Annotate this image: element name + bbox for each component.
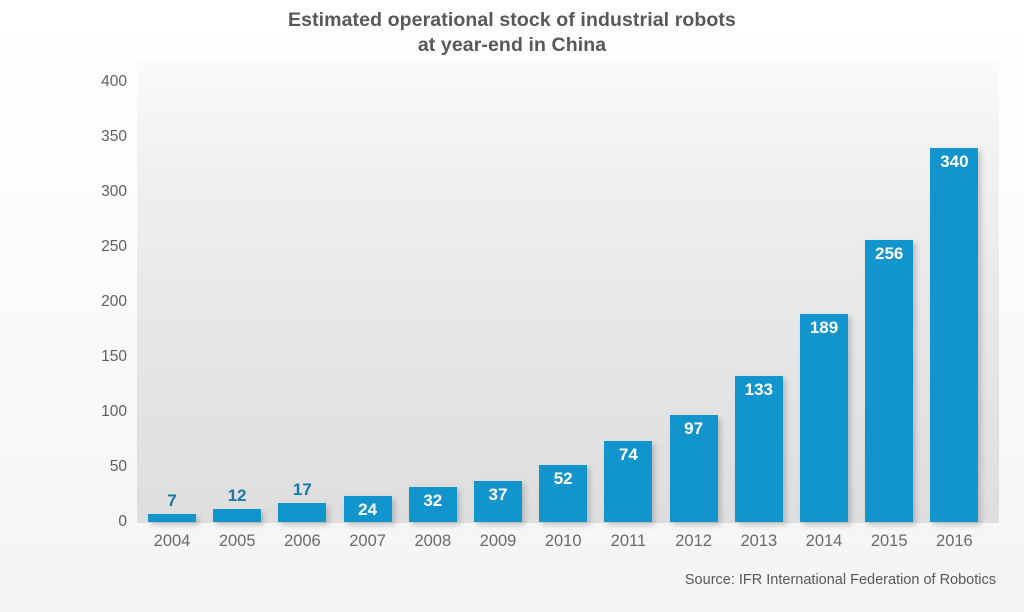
bar-group[interactable]: 12 [213,509,261,522]
bar-value-label: 17 [278,480,326,500]
x-axis-tick-label: 2005 [204,532,270,551]
bar[interactable] [800,314,848,522]
x-axis-tick-label: 2011 [595,532,661,551]
bar-value-label: 256 [865,244,913,264]
x-axis-tick-label: 2013 [726,532,792,551]
x-axis-tick-label: 2010 [530,532,596,551]
bar-group[interactable]: 97 [670,415,718,522]
bar-value-label: 12 [213,486,261,506]
bar[interactable] [148,514,196,522]
x-axis-tick-label: 2015 [856,532,922,551]
bar-value-label: 7 [148,491,196,511]
bars-and-x-axis-layer: 7200412200517200624200732200837200952201… [0,0,1024,612]
bar-value-label: 52 [539,469,587,489]
x-axis-tick-label: 2007 [335,532,401,551]
bar-group[interactable]: 17 [278,503,326,522]
bar-value-label: 24 [344,500,392,520]
bar[interactable] [213,509,261,522]
source-note: Source: IFR International Federation of … [685,572,996,588]
x-axis-tick-label: 2014 [791,532,857,551]
bar-group[interactable]: 37 [474,481,522,522]
x-axis-tick-label: 2006 [269,532,335,551]
bar-group[interactable]: 24 [344,496,392,522]
x-axis-tick-label: 2008 [400,532,466,551]
bar-group[interactable]: 52 [539,465,587,522]
bar[interactable] [278,503,326,522]
bar-value-label: 74 [604,445,652,465]
x-axis-tick-label: 2004 [139,532,205,551]
bar-value-label: 37 [474,485,522,505]
bar-group[interactable]: 74 [604,441,652,522]
bar[interactable] [865,240,913,522]
x-axis-tick-label: 2016 [921,532,987,551]
bar[interactable] [930,148,978,522]
bar-value-label: 32 [409,491,457,511]
bar-group[interactable]: 189 [800,314,848,522]
bar-value-label: 133 [735,380,783,400]
bar-group[interactable]: 133 [735,376,783,522]
x-axis-tick-label: 2012 [661,532,727,551]
x-axis-tick-label: 2009 [465,532,531,551]
bar-group[interactable]: 32 [409,487,457,522]
bar-value-label: 189 [800,318,848,338]
bar-value-label: 340 [930,152,978,172]
bar-value-label: 97 [670,419,718,439]
bar-group[interactable]: 7 [148,514,196,522]
bar-group[interactable]: 340 [930,148,978,522]
bar-chart: Estimated operational stock of industria… [0,0,1024,612]
bar-group[interactable]: 256 [865,240,913,522]
